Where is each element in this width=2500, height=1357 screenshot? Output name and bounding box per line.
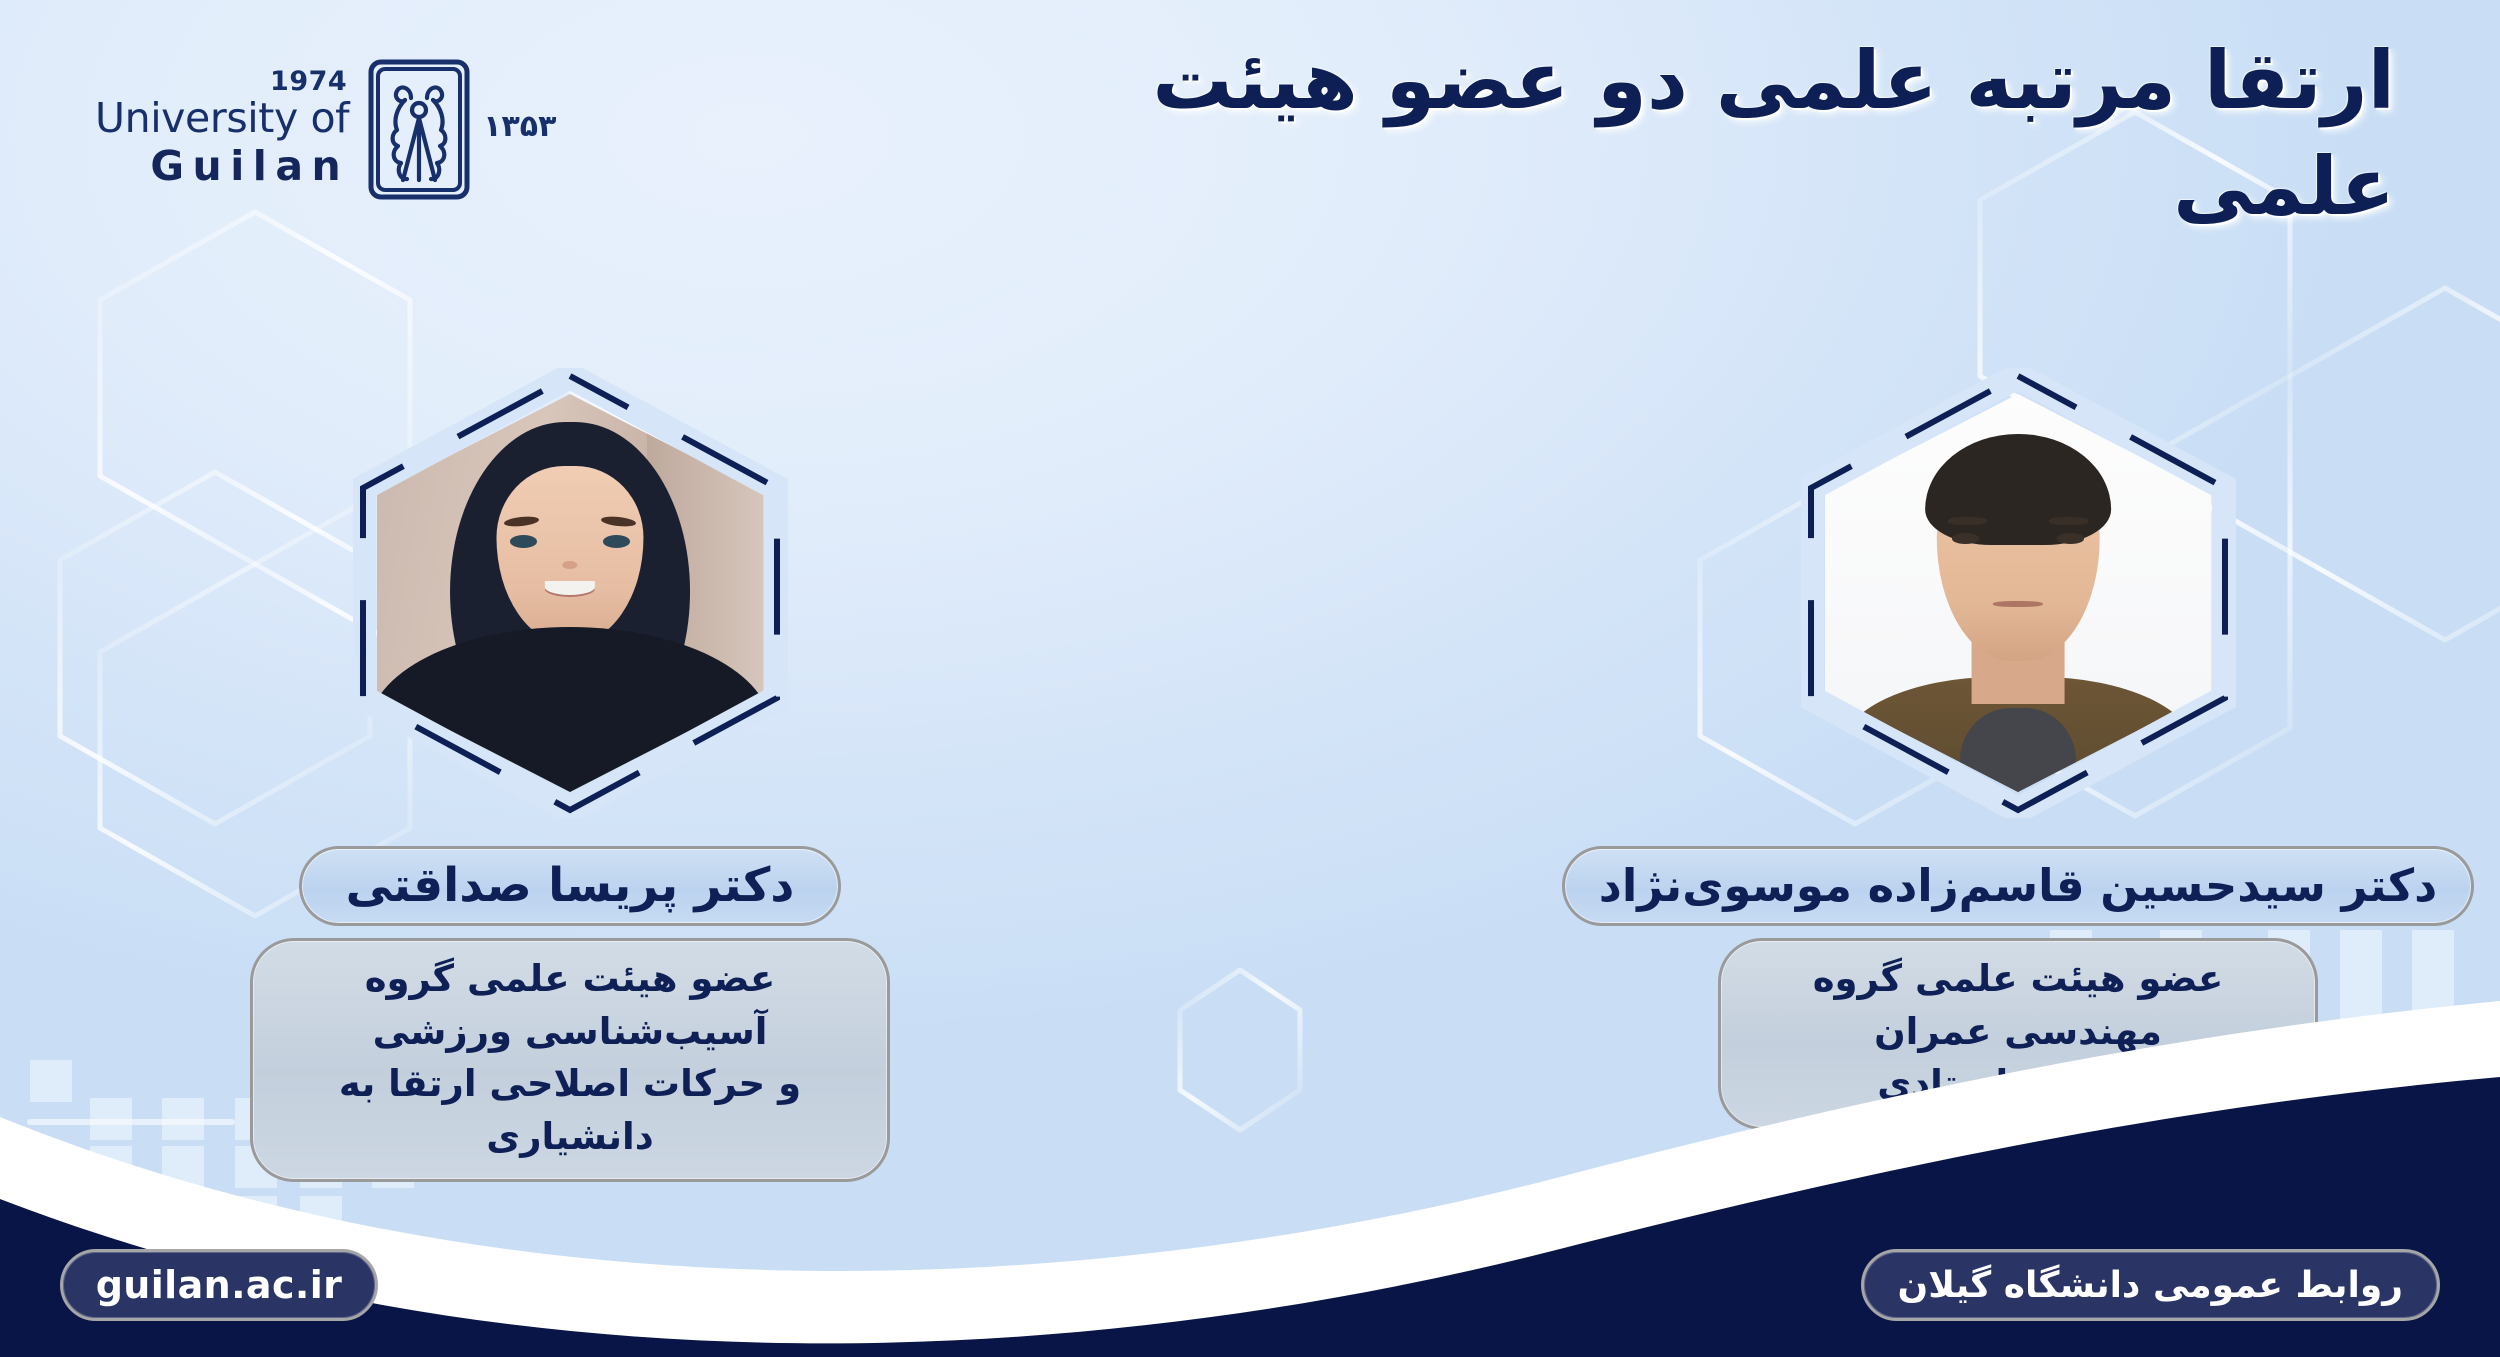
logo-english-line2: Guilan bbox=[95, 143, 349, 190]
page-title: ارتقا مرتبه علمی دو عضو هیئت علمی bbox=[1145, 28, 2395, 239]
svg-text:دانشگاه گیلان: دانشگاه گیلان bbox=[836, 98, 839, 175]
logo-persian-name-calligraphy: دانشگاه گیلان bbox=[564, 55, 839, 203]
hexagon-border-icon bbox=[1801, 368, 2236, 818]
photo-frame-left bbox=[353, 368, 788, 818]
university-logo: 1974 University of Guilan ۱۳۵۳ دانشگاه گ… bbox=[95, 55, 839, 203]
website-badge[interactable]: guilan.ac.ir bbox=[60, 1249, 378, 1321]
poster-canvas: 1974 University of Guilan ۱۳۵۳ دانشگاه گ… bbox=[0, 0, 2500, 1357]
photo-frame-right bbox=[1801, 368, 2236, 818]
logo-year-persian: ۱۳۵۳ bbox=[483, 109, 556, 144]
logo-english-text: 1974 University of Guilan bbox=[95, 68, 367, 190]
logo-persian-block: ۱۳۵۳ دانشگاه گیلان bbox=[471, 55, 839, 203]
hexagon-border-icon bbox=[353, 368, 788, 818]
person-name-left: دکتر پریسا صداقتی bbox=[299, 846, 842, 926]
public-relations-badge: روابط عمومی دانشگاه گیلان bbox=[1861, 1249, 2440, 1321]
guilan-university-emblem-icon bbox=[367, 58, 471, 201]
person-name-right: دکتر سیدحسین قاسم‌زاده موسوی‌نژاد bbox=[1562, 846, 2474, 926]
logo-year-gregorian: 1974 bbox=[95, 68, 347, 95]
logo-english-line1: University of bbox=[95, 97, 349, 140]
